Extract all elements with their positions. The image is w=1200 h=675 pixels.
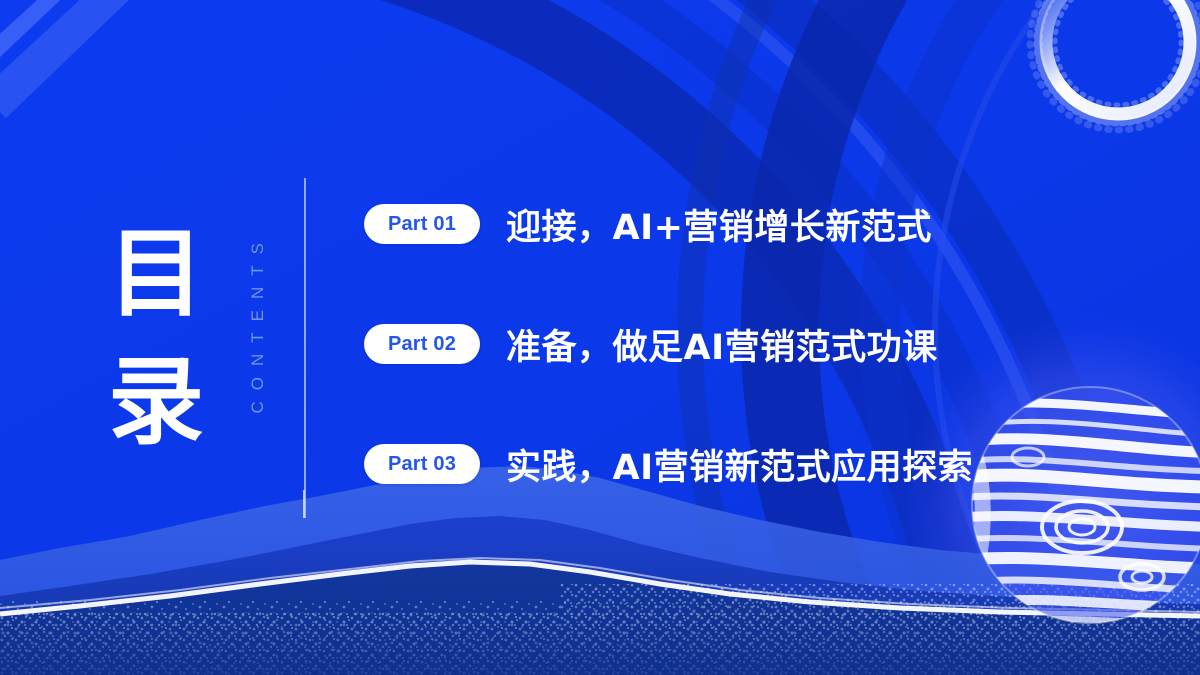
- page-title: 目 录: [108, 222, 248, 454]
- crescent-moon: [1030, 0, 1200, 130]
- snow-crest: [0, 558, 1200, 616]
- part-badge[interactable]: Part 01: [364, 204, 480, 244]
- list-item[interactable]: Part 01 迎接，AI+营销增长新范式: [364, 186, 1084, 262]
- corner-highlight-sliver: [0, 0, 160, 118]
- contents-list: Part 01 迎接，AI+营销增长新范式 Part 02 准备，做足AI营销范…: [364, 186, 1084, 546]
- contents-vertical-label: CONTENTS: [248, 232, 268, 414]
- part-badge[interactable]: Part 03: [364, 444, 480, 484]
- title-char-second: 录: [108, 350, 248, 454]
- part-title[interactable]: 实践，AI营销新范式应用探索: [506, 439, 973, 490]
- title-char-first: 目: [108, 222, 248, 326]
- list-item[interactable]: Part 03 实践，AI营销新范式应用探索: [364, 426, 1084, 502]
- list-item[interactable]: Part 02 准备，做足AI营销范式功课: [364, 306, 1084, 382]
- vertical-divider: [304, 178, 306, 518]
- part-title[interactable]: 准备，做足AI营销范式功课: [506, 319, 938, 370]
- part-title[interactable]: 迎接，AI+营销增长新范式: [506, 199, 932, 250]
- snow-stipple-field: [0, 584, 1200, 675]
- part-badge[interactable]: Part 02: [364, 324, 480, 364]
- presentation-slide: 目 录 CONTENTS Part 01 迎接，AI+营销增长新范式 Part …: [0, 0, 1200, 675]
